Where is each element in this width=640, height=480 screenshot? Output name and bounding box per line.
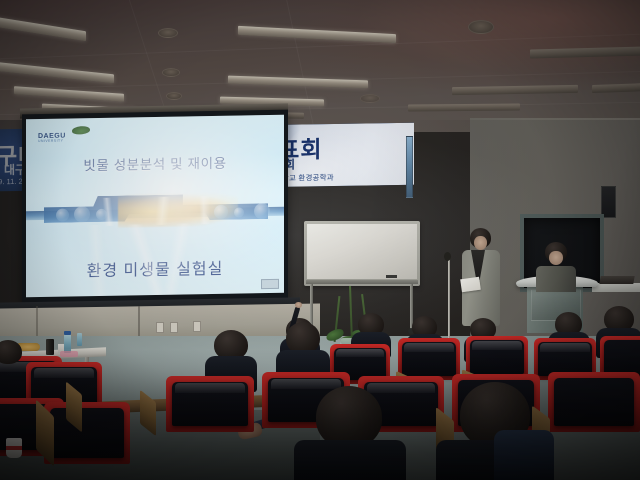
microphone-icon [444,252,451,261]
seat-sheen [336,349,384,357]
floor-bottle [77,333,82,346]
wall-panel-seam [138,306,140,340]
seat-sheen [472,341,522,350]
whiteboard-surface [307,224,417,279]
seat-sheen [34,368,94,378]
audience-shoulder [494,430,554,480]
ceiling-downlight [158,28,178,38]
seat-back [554,378,634,426]
ceiling-downlight [166,92,182,100]
slide-logo-subtext: UNIVERSITY [38,139,63,143]
orchid-flower [363,286,374,296]
ceiling-light [408,104,520,112]
paper-cup-band [6,446,22,450]
orchid-flower [337,300,348,310]
presenter-face [549,251,563,265]
ceiling-vent [468,20,494,34]
seat-sheen [271,379,341,389]
presenter-torso [536,266,576,292]
microphone-stand [448,258,450,338]
whiteboard [304,221,420,286]
seat-sheen [404,343,454,352]
audience-hand [295,302,302,308]
orchid-flower [366,302,376,311]
slide-title: 빗물 성분분석 및 재이용 [26,151,284,176]
projection-slide: DAEGU UNIVERSITY 빗물 성분분석 및 재이용 환경 미생물 실험… [26,115,284,298]
book-on-table [599,276,634,284]
auditorium-seat [466,336,528,378]
orchid-flower [348,312,358,321]
auditorium-seat [398,338,460,380]
auditorium-seat [166,376,254,432]
photo-scene: 구대 대구 09. 11. 20(금 발표회 발표회 : 대구대학교 환경공학과… [0,0,640,480]
audience-head [316,386,382,448]
seat-back [604,340,640,376]
wall-outlet [170,322,178,333]
audience-head [0,340,22,364]
presenter-face [474,236,487,250]
seat-sheen [367,383,435,393]
seat-sheen [540,343,590,352]
orchid-flower [339,284,351,295]
orchid-flower [351,280,363,291]
wall-outlet [156,322,164,333]
projection-screen: DAEGU UNIVERSITY 빗물 성분분석 및 재이용 환경 미생물 실험… [22,110,288,305]
orchid-flower [325,304,335,313]
thermos-flask [46,339,54,355]
presenter-script-papers [460,277,481,293]
ceiling-downlight [162,68,180,77]
orchid-flower [332,316,342,325]
ceiling-light [592,83,640,93]
audience-torso [294,440,406,480]
ceiling-vent [360,94,380,103]
leaf-emblem-icon [72,126,91,136]
orchid-flower [328,290,339,300]
seat-back [50,408,124,458]
podium-presenter [534,242,578,288]
slide-light-rays [26,222,284,298]
slide-corner-badge [261,279,279,289]
auditorium-seat [548,372,640,432]
orchid-flower [353,296,364,306]
pink-item-on-table [60,351,78,357]
wall-outlet [193,321,201,332]
side-table [592,283,640,292]
slide-logo: DAEGU UNIVERSITY [38,126,100,144]
seat-sheen [175,383,245,393]
wall-panel-seam [36,306,38,340]
bottle-cap [64,331,71,335]
auditorium-seat [44,402,130,464]
